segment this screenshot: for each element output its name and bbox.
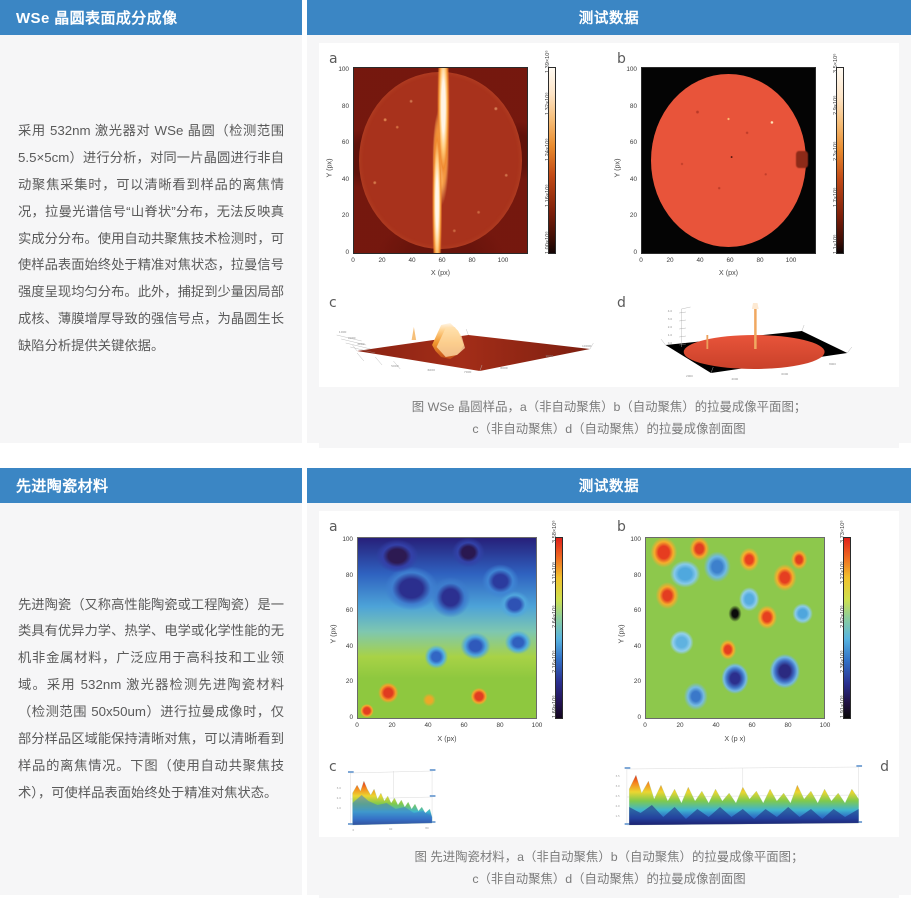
svg-text:6000: 6000 [428,368,436,372]
figure-cell-b: b 0 20 40 60 [607,49,895,291]
panel-label-d: d [617,295,626,311]
section-data-header: 测试数据 [307,0,911,35]
y-tick-label: 20 [325,212,349,219]
svg-text:2.0: 2.0 [337,796,342,800]
x-tick-label: 20 [374,257,390,264]
figure-cell-d: d [607,759,895,833]
y-axis-title: Y (px) [329,604,338,644]
x-tick-label: 40 [692,257,708,264]
section-header: 先进陶瓷材料 测试数据 [0,468,911,503]
y-tick-label: 100 [329,536,353,543]
plot-panel-a: a 0 20 40 60 80 100 0 [323,517,607,757]
section-figures-pane: a 0 20 40 [307,35,911,443]
surface-plot-c: 3.02.01.0 04080 [323,759,607,833]
intensity-specks [651,74,807,248]
section-header: WSe 晶圆表面成分成像 测试数据 [0,0,911,35]
colorbar-tick-label: 1.7×10⁶ [833,187,839,207]
svg-text:6000: 6000 [781,372,788,376]
plot-panel-d: d [611,759,895,833]
section-description: 采用 532nm 激光器对 WSe 晶圆（检测范围 5.5×5cm）进行分析，对… [18,118,284,360]
y-tick-label: 80 [613,103,637,110]
x-tick-label: 100 [494,257,512,264]
x-tick-label: 60 [744,722,760,729]
section-description-pane: 先进陶瓷（又称高性能陶瓷或工程陶瓷）是一类具有优异力学、热学、电学或化学性能的无… [0,503,302,895]
y-tick-label: 20 [613,212,637,219]
figure-row-profile: c [323,759,895,833]
y-tick-label: 0 [613,249,637,256]
caption-line-1: 图 WSe 晶圆样品，a（非自动聚焦）b（自动聚焦）的拉曼成像平面图； [345,397,873,419]
svg-text:9000: 9000 [546,354,554,358]
colorbar-tick-label: 1.32×10⁶ [545,92,551,115]
figure-cell-a: a 0 20 40 60 80 100 0 [323,517,607,757]
x-tick-label: 100 [527,722,547,729]
colorbar-tick-label: 1.24×10⁶ [545,138,551,161]
page-root: WSe 晶圆表面成分成像 测试数据 采用 532nm 激光器对 WSe 晶圆（检… [0,0,911,895]
x-tick-label: 40 [404,257,420,264]
y-tick-label: 100 [617,536,641,543]
colorbar-tick-label: 2.16×10⁶ [552,650,558,673]
panel-label-a: a [329,51,338,67]
colorbar-tick-label: 1.16×10⁶ [545,184,551,207]
plot-area-b [641,67,816,254]
panel-label-d: d [880,759,889,775]
x-tick-label: 0 [633,257,649,264]
y-tick-label: 40 [329,643,353,650]
y-tick-label: 100 [613,66,637,73]
edge-artifact [796,151,808,168]
section-title: 先进陶瓷材料 [0,468,302,503]
panel-label-b: b [617,519,626,535]
plot-panel-d: d [611,295,895,383]
x-tick-label: 0 [345,257,361,264]
figure-caption: 图 先进陶瓷材料，a（非自动聚焦）b（自动聚焦）的拉曼成像平面图； c（非自动聚… [319,837,899,898]
section-body: 先进陶瓷（又称高性能陶瓷或工程陶瓷）是一类具有优异力学、热学、电学或化学性能的无… [0,503,911,895]
y-tick-label: 0 [617,714,641,721]
plot-panel-c: c [323,759,607,833]
x-tick-label: 80 [492,722,508,729]
surface-plot-d: 3.53.02.5 2.01.5 [611,759,895,833]
panel-label-a: a [329,519,338,535]
x-tick-label: 60 [722,257,738,264]
x-tick-label: 100 [815,722,835,729]
figure-cell-a: a 0 20 40 [323,49,607,291]
y-tick-label: 80 [329,572,353,579]
colorbar-tick-label: 3.27×10⁶ [840,561,846,584]
y-tick-label: 100 [325,66,349,73]
x-tick-label: 80 [752,257,768,264]
section-data-header: 测试数据 [307,468,911,503]
section-advanced-ceramics: 先进陶瓷材料 测试数据 先进陶瓷（又称高性能陶瓷或工程陶瓷）是一类具有优异力学、… [0,468,911,895]
colorbar-tick-label: 2.36×10⁶ [840,650,846,673]
figure-group: a 0 20 40 60 80 100 0 [319,511,899,837]
panel-label-c: c [329,295,337,311]
y-axis-title: Y (px) [617,604,626,644]
section-figures-pane: a 0 20 40 60 80 100 0 [307,503,911,895]
x-tick-label: 80 [464,257,480,264]
colorbar-tick-label: 1.00×10⁶ [545,231,551,254]
section-description: 先进陶瓷（又称高性能陶瓷或工程陶瓷）是一类具有优异力学、热学、电学或化学性能的无… [18,592,284,807]
svg-text:5000: 5000 [391,364,399,368]
svg-text:3.0: 3.0 [616,784,621,788]
svg-text:2000: 2000 [686,374,693,378]
figure-cell-b: b 0 20 40 60 80 100 0 [607,517,895,757]
x-tick-label: 20 [672,722,688,729]
x-tick-label: 60 [434,257,450,264]
y-tick-label: 0 [329,714,353,721]
surface-plot-c: 100020003000 500060007000 8000900010000 [323,295,607,383]
svg-text:3.0: 3.0 [337,786,342,790]
figure-cell-c: c [323,759,607,833]
plot-area-a [353,67,528,254]
svg-text:3.5: 3.5 [616,774,621,778]
colorbar-tick-label: 1.69×10⁶ [552,695,558,718]
svg-text:40: 40 [389,827,393,831]
plot-panel-b: b 0 20 40 60 80 100 0 [611,517,895,757]
panel-label-b: b [617,51,626,67]
x-tick-label: 20 [384,722,400,729]
y-tick-label: 20 [617,678,641,685]
svg-text:2.5: 2.5 [616,794,621,798]
surface-plot-d: 4.03.02.0 1.00.0 2000400060008000 [611,295,895,383]
y-tick-label: 80 [325,103,349,110]
svg-text:2000: 2000 [348,336,356,340]
caption-line-2: c（非自动聚焦）d（自动聚焦）的拉曼成像剖面图 [345,419,873,441]
colorbar-tick-label: 1.91×10⁶ [840,695,846,718]
svg-text:4.0: 4.0 [668,309,673,313]
figure-group: a 0 20 40 [319,43,899,387]
plot-panel-c: c [323,295,607,383]
section-wse-wafer: WSe 晶圆表面成分成像 测试数据 采用 532nm 激光器对 WSe 晶圆（检… [0,0,911,443]
svg-text:2.0: 2.0 [668,325,673,329]
svg-text:2.0: 2.0 [616,804,621,808]
x-tick-label: 0 [349,722,365,729]
svg-text:4000: 4000 [731,377,738,381]
plot-area-b [645,537,825,719]
colorbar-tick-label: 3.73×10⁶ [840,520,846,543]
y-tick-label: 0 [325,249,349,256]
y-tick-label: 80 [617,572,641,579]
x-tick-label: 100 [782,257,800,264]
x-tick-label: 80 [780,722,796,729]
ceramic-heatmap-surface [358,538,536,718]
intensity-specks [354,68,527,253]
x-tick-label: 40 [708,722,724,729]
svg-text:1000: 1000 [339,330,347,334]
x-axis-title: X (px) [357,734,537,743]
colorbar-tick-label: 2.64×10⁶ [552,605,558,628]
colorbar-tick-label: 3.5×10⁶ [833,53,839,73]
section-body: 采用 532nm 激光器对 WSe 晶圆（检测范围 5.5×5cm）进行分析，对… [0,35,911,443]
y-tick-label: 40 [617,643,641,650]
figure-row-profile: c [323,295,895,383]
svg-text:1.5: 1.5 [616,814,621,818]
svg-text:80: 80 [425,826,429,830]
ceramic-heatmap-surface [646,538,824,718]
x-axis-title: X (px) [641,268,816,277]
plot-panel-a: a 0 20 40 [323,49,607,291]
svg-text:10000: 10000 [582,344,592,348]
y-axis-title: Y (px) [325,138,334,178]
figure-row-planar: a 0 20 40 [323,49,895,291]
x-tick-label: 60 [456,722,472,729]
svg-text:0.0: 0.0 [668,341,673,345]
svg-text:1.0: 1.0 [668,333,673,337]
colorbar-tick-label: 1.1×10⁶ [833,234,839,254]
figure-cell-c: c [323,295,607,383]
colorbar-tick-label: 2.9×10⁶ [833,95,839,115]
svg-text:3000: 3000 [357,342,365,346]
panel-label-c: c [329,759,337,775]
x-axis-title: X (px) [353,268,528,277]
x-tick-label: 20 [662,257,678,264]
x-tick-label: 40 [420,722,436,729]
svg-text:8000: 8000 [829,362,836,366]
caption-line-1: 图 先进陶瓷材料，a（非自动聚焦）b（自动聚焦）的拉曼成像平面图； [345,847,873,869]
caption-line-2: c（非自动聚焦）d（自动聚焦）的拉曼成像剖面图 [345,869,873,891]
plot-area-a [357,537,537,719]
section-title: WSe 晶圆表面成分成像 [0,0,302,35]
y-tick-label: 20 [329,678,353,685]
figure-row-planar: a 0 20 40 60 80 100 0 [323,517,895,757]
colorbar-tick-label: 1.39×10⁶ [545,50,551,73]
y-axis-title: Y (px) [613,138,622,178]
plot-panel-b: b 0 20 40 60 [611,49,895,291]
svg-text:3.0: 3.0 [668,317,673,321]
colorbar-tick-label: 3.11×10⁶ [552,562,558,584]
svg-text:7000: 7000 [464,370,472,374]
colorbar-tick-label: 3.58×10⁶ [552,520,558,543]
svg-text:8000: 8000 [500,366,508,370]
x-tick-label: 0 [637,722,653,729]
colorbar-tick-label: 2.82×10⁶ [840,605,846,628]
x-axis-title: X (p x) [645,734,825,743]
figure-cell-d: d [607,295,895,383]
figure-caption: 图 WSe 晶圆样品，a（非自动聚焦）b（自动聚焦）的拉曼成像平面图； c（非自… [319,387,899,448]
section-description-pane: 采用 532nm 激光器对 WSe 晶圆（检测范围 5.5×5cm）进行分析，对… [0,35,302,443]
svg-text:0: 0 [353,828,355,832]
svg-text:1.0: 1.0 [337,806,342,810]
colorbar-tick-label: 2.3×10⁶ [833,141,839,161]
